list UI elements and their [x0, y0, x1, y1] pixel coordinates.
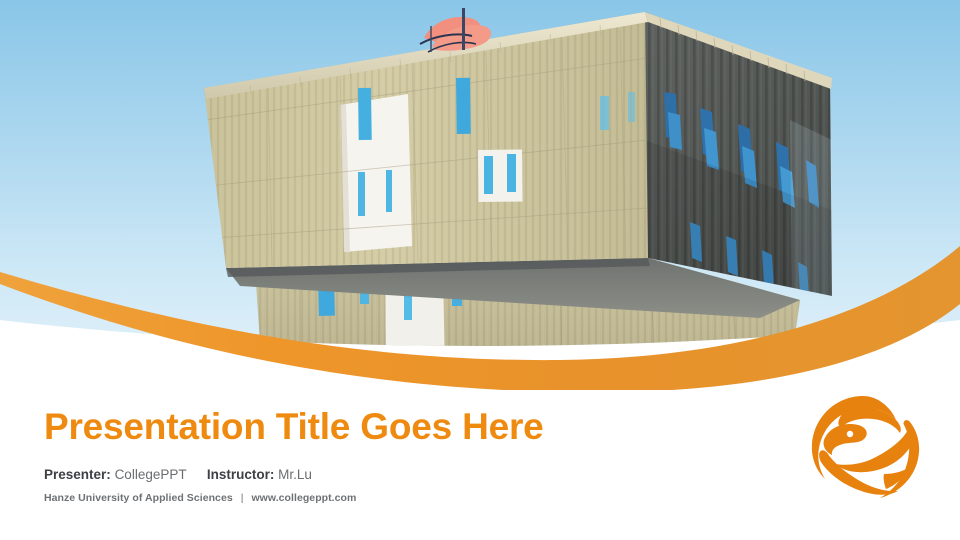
hanze-university-logo [806, 392, 920, 504]
instructor-name: Mr.Lu [278, 467, 312, 482]
website-url[interactable]: www.collegeppt.com [251, 492, 356, 504]
university-building-photo [0, 0, 960, 372]
hero-photo-banner [0, 0, 960, 372]
presenter-name: CollegePPT [115, 467, 187, 482]
page-title: Presentation Title Goes Here [44, 404, 744, 450]
slide-text-block: Presentation Title Goes Here Presenter: … [44, 404, 744, 505]
text-separator: | [236, 491, 249, 505]
presenter-meta-row: Presenter: CollegePPT Instructor: Mr.Lu [44, 466, 744, 484]
organization-name: Hanze University of Applied Sciences [44, 492, 233, 504]
instructor-label: Instructor: [207, 467, 275, 482]
presenter-label: Presenter: [44, 467, 111, 482]
presentation-slide: Presentation Title Goes Here Presenter: … [0, 0, 960, 540]
organization-row: Hanze University of Applied Sciences | w… [44, 491, 744, 505]
